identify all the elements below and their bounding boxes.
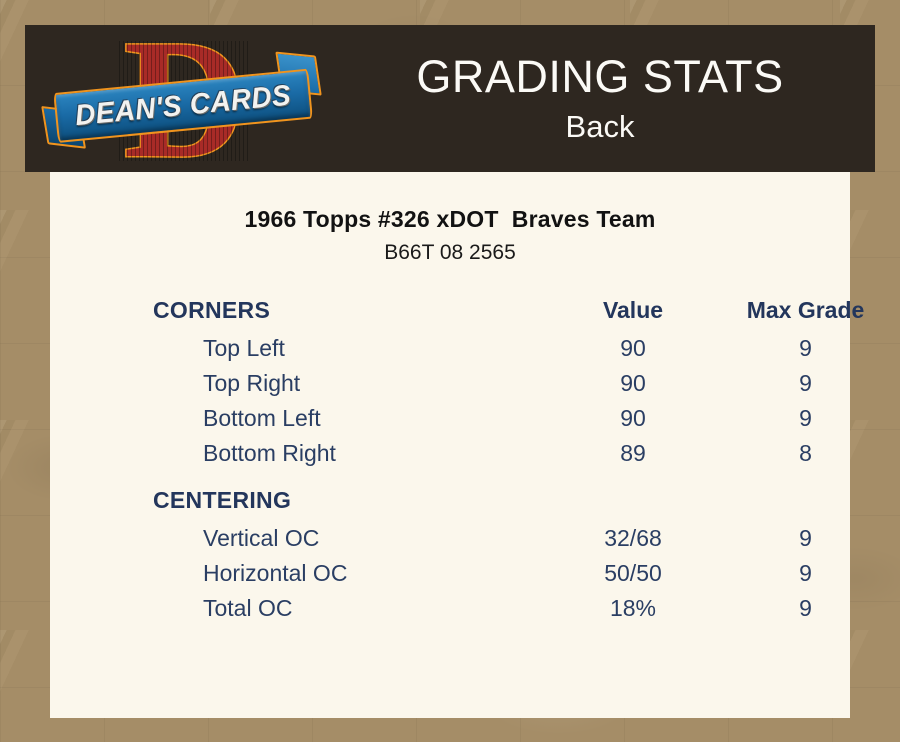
row-max-grade-bottom-right: 8 xyxy=(713,440,898,467)
section-title-corners: CORNERS xyxy=(153,297,270,324)
row-value-bottom-left: 90 xyxy=(558,405,708,432)
row-max-grade-total-oc: 9 xyxy=(713,595,898,622)
table-row: Total OC 18% 9 xyxy=(153,595,850,630)
row-max-grade-top-right: 9 xyxy=(713,370,898,397)
section-title-centering: CENTERING xyxy=(153,487,291,514)
row-max-grade-horizontal-oc: 9 xyxy=(713,560,898,587)
header-bar: D DEAN'S CARDS GRADING STATS Back xyxy=(25,25,875,172)
row-max-grade-vertical-oc: 9 xyxy=(713,525,898,552)
row-label-vertical-oc: Vertical OC xyxy=(203,525,319,552)
row-label-top-left: Top Left xyxy=(203,335,285,362)
section-header-centering: CENTERING xyxy=(153,487,850,525)
column-header-value: Value xyxy=(558,297,708,324)
row-value-top-right: 90 xyxy=(558,370,708,397)
row-label-top-right: Top Right xyxy=(203,370,300,397)
grading-stats-table: CORNERS Value Max Grade Top Left 90 9 To… xyxy=(50,297,850,630)
card-serial-number: B66T 08 2565 xyxy=(50,241,850,265)
logo-wordmark: DEAN'S CARDS xyxy=(60,71,305,140)
row-label-bottom-right: Bottom Right xyxy=(203,440,336,467)
row-label-total-oc: Total OC xyxy=(203,595,292,622)
table-row: Vertical OC 32/68 9 xyxy=(153,525,850,560)
row-value-horizontal-oc: 50/50 xyxy=(558,560,708,587)
table-row: Top Left 90 9 xyxy=(153,335,850,370)
table-row: Top Right 90 9 xyxy=(153,370,850,405)
table-row: Bottom Right 89 8 xyxy=(153,440,850,475)
row-value-total-oc: 18% xyxy=(558,595,708,622)
section-spacer xyxy=(153,475,850,487)
deans-cards-logo: D DEAN'S CARDS xyxy=(47,27,315,172)
row-value-bottom-right: 89 xyxy=(558,440,708,467)
grading-stats-page: D DEAN'S CARDS GRADING STATS Back 1966 T… xyxy=(0,0,900,742)
row-value-vertical-oc: 32/68 xyxy=(558,525,708,552)
table-row: Horizontal OC 50/50 9 xyxy=(153,560,850,595)
page-title: GRADING STATS xyxy=(416,50,783,104)
column-header-max-grade: Max Grade xyxy=(713,297,898,324)
content-panel: 1966 Topps #326 xDOT Braves Team B66T 08… xyxy=(50,172,850,718)
row-label-bottom-left: Bottom Left xyxy=(203,405,321,432)
header-title-group: GRADING STATS Back xyxy=(325,25,875,172)
row-label-horizontal-oc: Horizontal OC xyxy=(203,560,347,587)
table-row: Bottom Left 90 9 xyxy=(153,405,850,440)
card-title: 1966 Topps #326 xDOT Braves Team xyxy=(50,206,850,233)
section-header-corners: CORNERS Value Max Grade xyxy=(153,297,850,335)
row-max-grade-top-left: 9 xyxy=(713,335,898,362)
page-subtitle: Back xyxy=(566,107,635,147)
row-value-top-left: 90 xyxy=(558,335,708,362)
row-max-grade-bottom-left: 9 xyxy=(713,405,898,432)
